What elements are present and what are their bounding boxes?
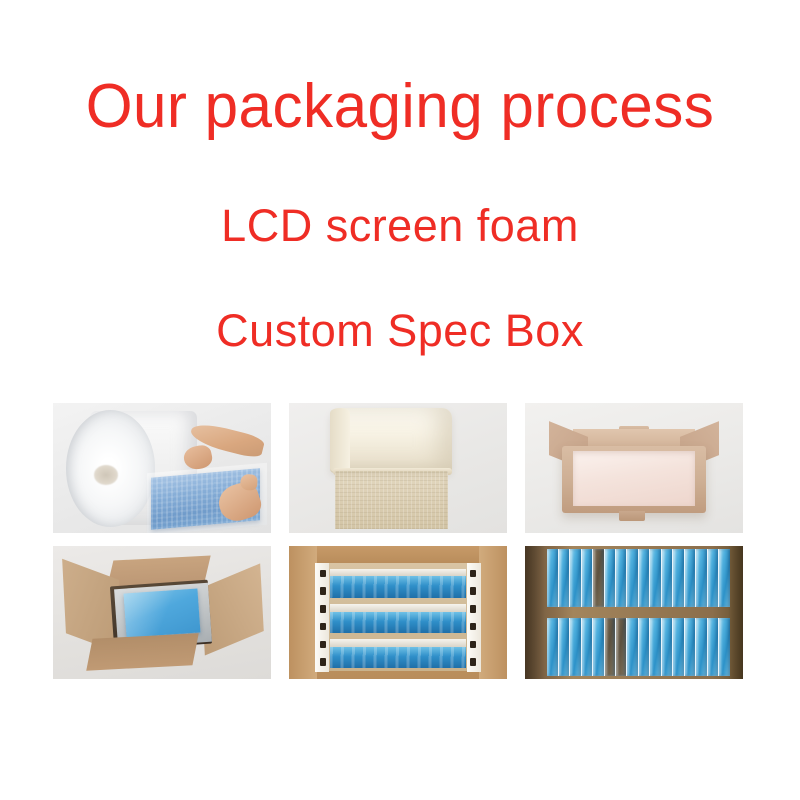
carton-with-panel-icon — [53, 546, 271, 679]
photo-carton-with-panel — [53, 546, 271, 679]
photo-vertical-packed-screens — [525, 546, 743, 679]
vertical-packed-screens-icon — [525, 546, 743, 679]
subtitle-custom-spec-box: Custom Spec Box — [0, 308, 800, 353]
subtitle-lcd-screen-foam: LCD screen foam — [0, 203, 800, 248]
photo-foam-film-roll — [289, 403, 507, 533]
photo-open-carton-foam — [525, 403, 743, 533]
stacked-panels-carton-icon — [289, 546, 507, 679]
packaging-process-banner: Our packaging process LCD screen foam Cu… — [0, 0, 800, 800]
photo-bubble-wrap-roll — [53, 403, 271, 533]
page-title: Our packaging process — [12, 76, 788, 138]
photo-gallery — [53, 403, 743, 679]
photo-stacked-panels-carton — [289, 546, 507, 679]
bubble-wrap-roll-icon — [53, 403, 271, 533]
open-carton-foam-icon — [525, 403, 743, 533]
foam-film-roll-icon — [289, 403, 507, 533]
